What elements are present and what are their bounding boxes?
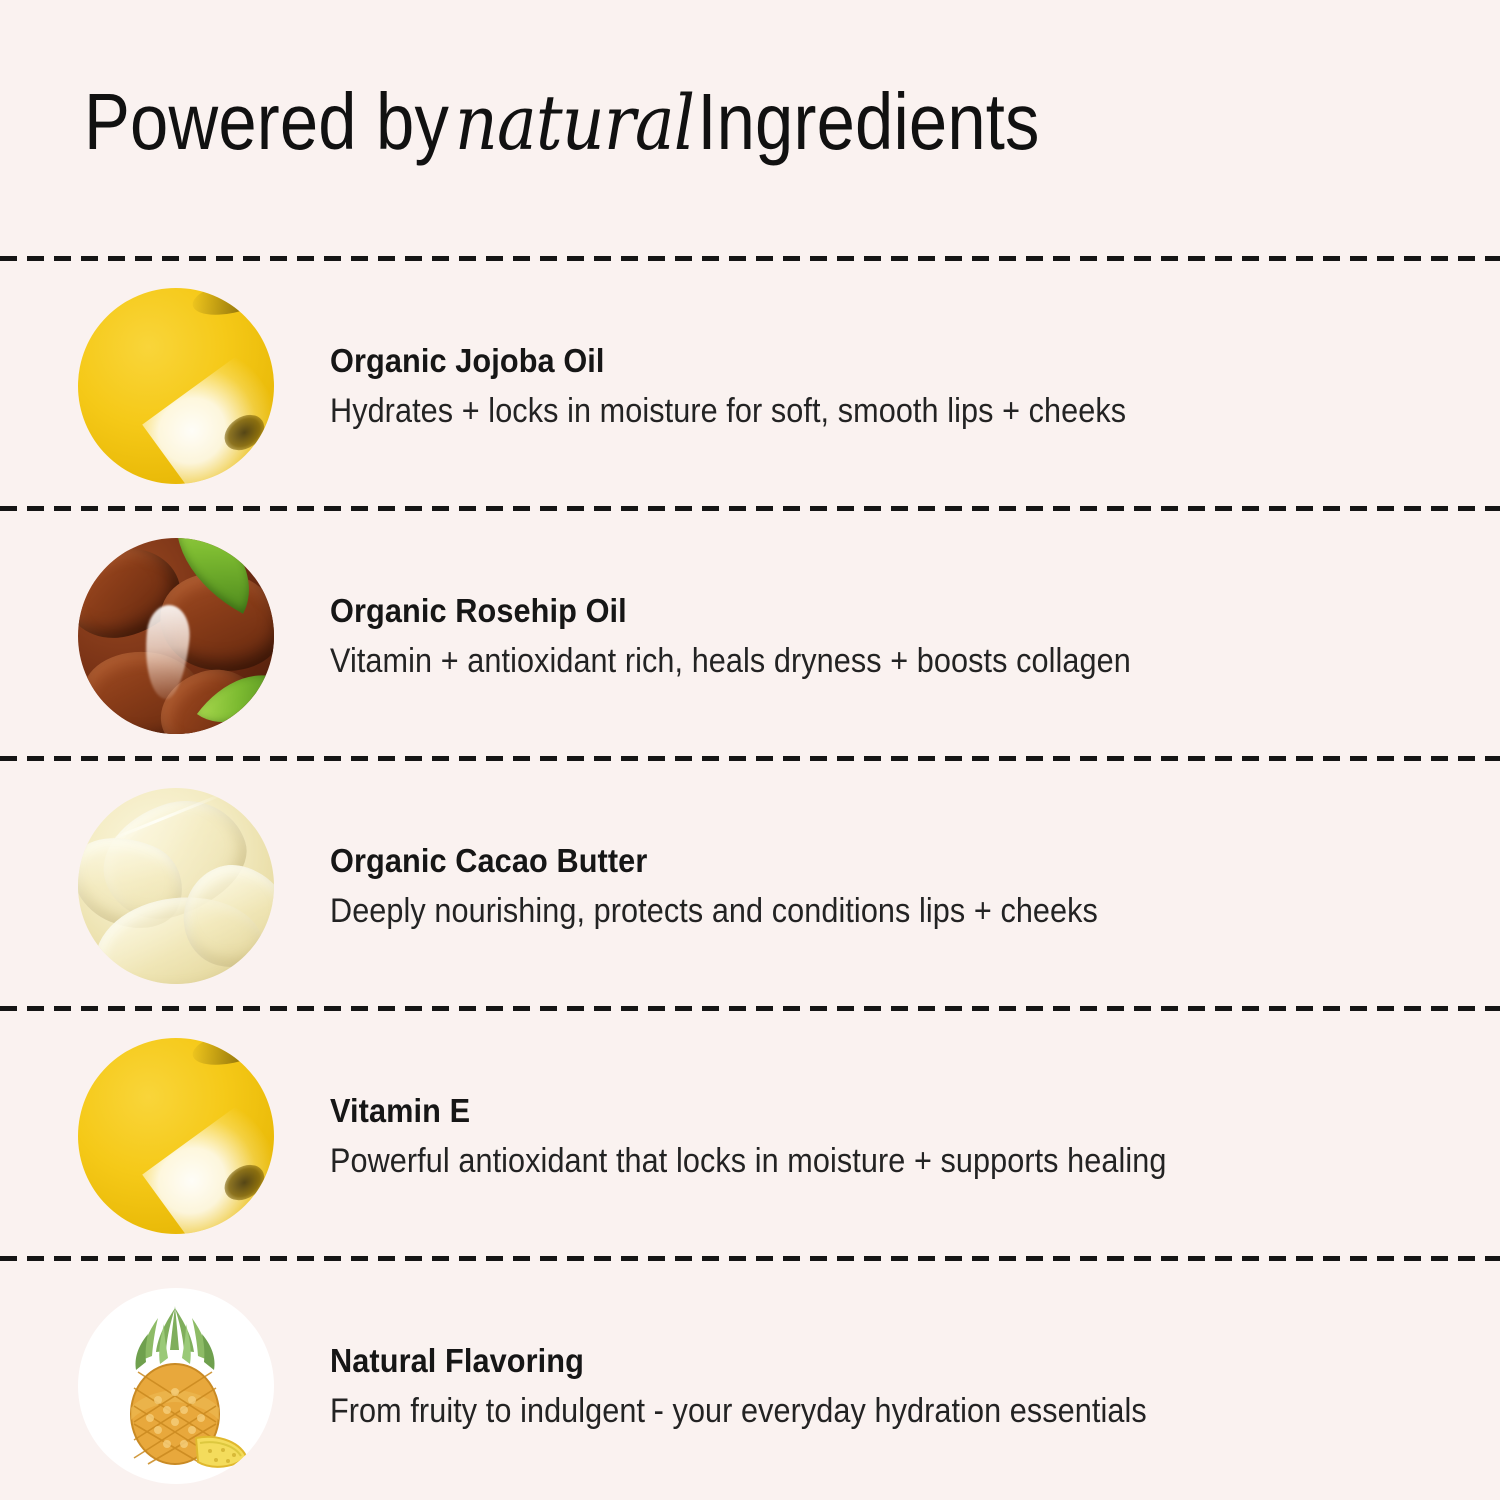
ingredient-text-block: Organic Cacao Butter Deeply nourishing, … (330, 842, 1500, 931)
ingredient-description: Hydrates + locks in moisture for soft, s… (330, 392, 1329, 431)
ingredient-description: Powerful antioxidant that locks in moist… (330, 1142, 1329, 1181)
ingredient-text-block: Natural Flavoring From fruity to indulge… (330, 1342, 1500, 1431)
rosehip-icon (78, 538, 274, 734)
page-title-script-word: natural (447, 83, 700, 163)
oil-droplet-icon (78, 288, 274, 484)
ingredient-image-golden-oil-droplet (78, 1038, 274, 1234)
ingredient-name: Organic Jojoba Oil (330, 342, 1362, 380)
ingredient-text-block: Vitamin E Powerful antioxidant that lock… (330, 1092, 1500, 1181)
ingredients-infographic: Powered bynaturalIngredients Organic Joj… (0, 0, 1500, 1500)
ingredient-description: From fruity to indulgent - your everyday… (330, 1392, 1329, 1431)
ingredient-name: Natural Flavoring (330, 1342, 1362, 1380)
oil-droplet-shadow (189, 1038, 272, 1071)
ingredient-description: Vitamin + antioxidant rich, heals drynes… (330, 642, 1329, 681)
oil-droplet-icon (78, 1038, 274, 1234)
pineapple-icon (78, 1288, 274, 1484)
ingredient-name: Organic Cacao Butter (330, 842, 1362, 880)
page-title: Powered bynaturalIngredients (84, 80, 1040, 164)
pineapple-illustration (78, 1288, 274, 1484)
page-title-before: Powered by (84, 77, 449, 166)
ingredient-text-block: Organic Rosehip Oil Vitamin + antioxidan… (330, 592, 1500, 681)
header: Powered bynaturalIngredients (0, 0, 1500, 258)
ingredient-image-pineapple-with-slice (78, 1288, 274, 1484)
ingredient-row-organic-rosehip-oil: Organic Rosehip Oil Vitamin + antioxidan… (0, 511, 1500, 761)
ingredient-image-golden-oil-droplet (78, 288, 274, 484)
oil-droplet-shadow (189, 288, 272, 321)
page-title-after: Ingredients (697, 77, 1039, 166)
ingredient-row-organic-cacao-butter: Organic Cacao Butter Deeply nourishing, … (0, 761, 1500, 1011)
cacao-butter-icon (78, 788, 274, 984)
ingredient-name: Vitamin E (330, 1092, 1362, 1130)
ingredient-image-whipped-cacao-butter (78, 788, 274, 984)
ingredient-description: Deeply nourishing, protects and conditio… (330, 892, 1329, 931)
ingredient-row-vitamin-e: Vitamin E Powerful antioxidant that lock… (0, 1011, 1500, 1261)
ingredient-row-natural-flavoring: Natural Flavoring From fruity to indulge… (0, 1261, 1500, 1500)
ingredient-name: Organic Rosehip Oil (330, 592, 1362, 630)
ingredient-text-block: Organic Jojoba Oil Hydrates + locks in m… (330, 342, 1500, 431)
ingredient-row-organic-jojoba-oil: Organic Jojoba Oil Hydrates + locks in m… (0, 261, 1500, 511)
ingredient-image-rosehip-fruit-with-leaves (78, 538, 274, 734)
